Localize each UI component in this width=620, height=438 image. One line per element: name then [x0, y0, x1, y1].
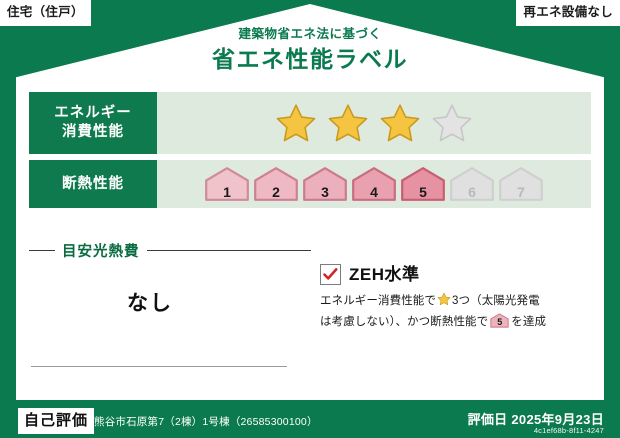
lower-content: 目安光熱費 なし ZEH水準 エネルギー消費性能で 3つ（太陽光発電	[29, 238, 591, 396]
zeh-desc-part2: 3つ（太陽光発電	[452, 295, 540, 307]
heading-rule-right	[147, 250, 312, 251]
insulation-level-number: 5	[400, 185, 446, 199]
label-footer: 自己評価 熊谷市石原第7（2棟）1号棟（26585300100） 評価日 202…	[0, 400, 620, 438]
zeh-description: エネルギー消費性能で 3つ（太陽光発電 は考慮しない）、かつ断熱性能で 5 を達…	[320, 292, 582, 332]
insulation-level-number: 6	[449, 185, 495, 199]
insulation-level-badge: 6	[449, 166, 495, 202]
insulation-level-scale: 1234567	[157, 160, 591, 208]
star-rating	[157, 92, 591, 154]
zeh-checkbox[interactable]	[320, 264, 341, 285]
inline-insulation-badge: 5	[490, 313, 509, 328]
utility-cost-value: なし	[29, 287, 311, 317]
insulation-level-number: 2	[253, 185, 299, 199]
energy-tag-line2: 消費性能	[62, 123, 124, 142]
star-empty-icon	[430, 102, 474, 144]
inline-badge-number: 5	[490, 318, 509, 327]
energy-tag-line1: エネルギー	[54, 104, 132, 123]
property-name: 熊谷市石原第7（2棟）1号棟（26585300100）	[94, 414, 318, 429]
energy-performance-row: エネルギー 消費性能	[29, 92, 591, 154]
building-type-tab: 住宅（住戸）	[0, 0, 91, 26]
insulation-level-badge: 1	[204, 166, 250, 202]
performance-rows: エネルギー 消費性能 断熱性能 1234567	[29, 92, 591, 214]
energy-performance-tag: エネルギー 消費性能	[29, 92, 157, 154]
utility-cost-heading: 目安光熱費	[29, 240, 311, 261]
insulation-level-number: 3	[302, 185, 348, 199]
heading-rule-left	[29, 250, 55, 251]
insulation-level-number: 7	[498, 185, 544, 199]
evaluation-id: 4c1ef68b-8f11-4247	[534, 426, 604, 435]
insulation-tag-label: 断熱性能	[62, 175, 124, 194]
star-filled-icon	[326, 102, 370, 144]
inline-star-icon	[437, 292, 451, 313]
utility-cost-title: 目安光熱費	[62, 240, 140, 261]
insulation-level-number: 1	[204, 185, 250, 199]
insulation-level-badge: 5	[400, 166, 446, 202]
insulation-level-badge: 4	[351, 166, 397, 202]
utility-cost-section: 目安光熱費 なし	[29, 238, 311, 396]
insulation-level-badge: 2	[253, 166, 299, 202]
zeh-desc-part1: エネルギー消費性能で	[320, 295, 436, 307]
star-filled-icon	[378, 102, 422, 144]
blank-writing-line	[31, 366, 287, 367]
star-filled-icon	[274, 102, 318, 144]
zeh-section: ZEH水準 エネルギー消費性能で 3つ（太陽光発電 は考慮しない）、かつ断熱性能…	[311, 238, 591, 396]
insulation-level-number: 4	[351, 185, 397, 199]
insulation-performance-tag: 断熱性能	[29, 160, 157, 208]
zeh-desc-part4: を達成	[511, 316, 546, 328]
self-evaluation-badge: 自己評価	[18, 408, 94, 434]
check-icon	[322, 266, 339, 283]
insulation-level-badge: 3	[302, 166, 348, 202]
zeh-desc-part3: は考慮しない）、かつ断熱性能で	[320, 316, 488, 328]
zeh-standard-label: ZEH水準	[349, 266, 420, 283]
insulation-level-badge: 7	[498, 166, 544, 202]
insulation-performance-row: 断熱性能 1234567	[29, 160, 591, 208]
zeh-title-row: ZEH水準	[320, 264, 591, 285]
energy-performance-label: 住宅（住戸） 再エネ設備なし 建築物省エネ法に基づく 省エネ性能ラベル エネルギ…	[0, 0, 620, 438]
renewable-energy-tab: 再エネ設備なし	[516, 0, 620, 26]
